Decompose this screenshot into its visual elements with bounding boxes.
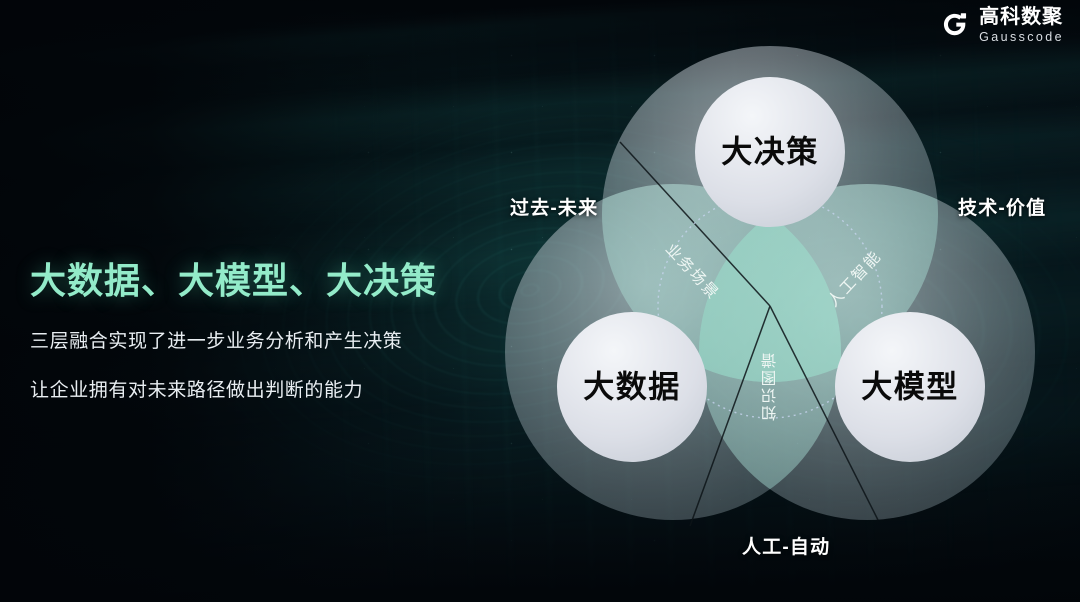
brand-logo: 高科数聚 Gausscode [940, 7, 1064, 44]
axis-label-right: 技术-价值 [958, 193, 1046, 220]
core-label-bigmodel: 大模型 [861, 370, 959, 405]
axis-label-bottom: 人工-自动 [742, 532, 830, 559]
copy-block: 大数据、大模型、大决策 三层融合实现了进一步业务分析和产生决策 让企业拥有对未来… [30, 252, 437, 402]
core-label-decision: 大决策 [721, 135, 819, 170]
venn-diagram: 大决策 大数据 大模型 业务场景 人工智能 知识图谱 [480, 14, 1060, 554]
page-title: 大数据、大模型、大决策 [30, 252, 437, 304]
brand-name-en: Gausscode [979, 31, 1064, 44]
brand-name-cn: 高科数聚 [979, 7, 1064, 27]
intersection-label-kg: 知识图谱 [761, 351, 779, 421]
brand-logo-text: 高科数聚 Gausscode [979, 7, 1064, 44]
core-label-bigdata: 大数据 [583, 370, 681, 405]
slide-canvas: 高科数聚 Gausscode 大数据、大模型、大决策 三层融合实现了进一步业务分… [0, 0, 1080, 602]
axis-label-left: 过去-未来 [510, 193, 598, 220]
copy-line-2: 让企业拥有对未来路径做出判断的能力 [30, 375, 437, 402]
copy-line-1: 三层融合实现了进一步业务分析和产生决策 [30, 326, 437, 353]
gausscode-logo-icon [940, 10, 970, 40]
